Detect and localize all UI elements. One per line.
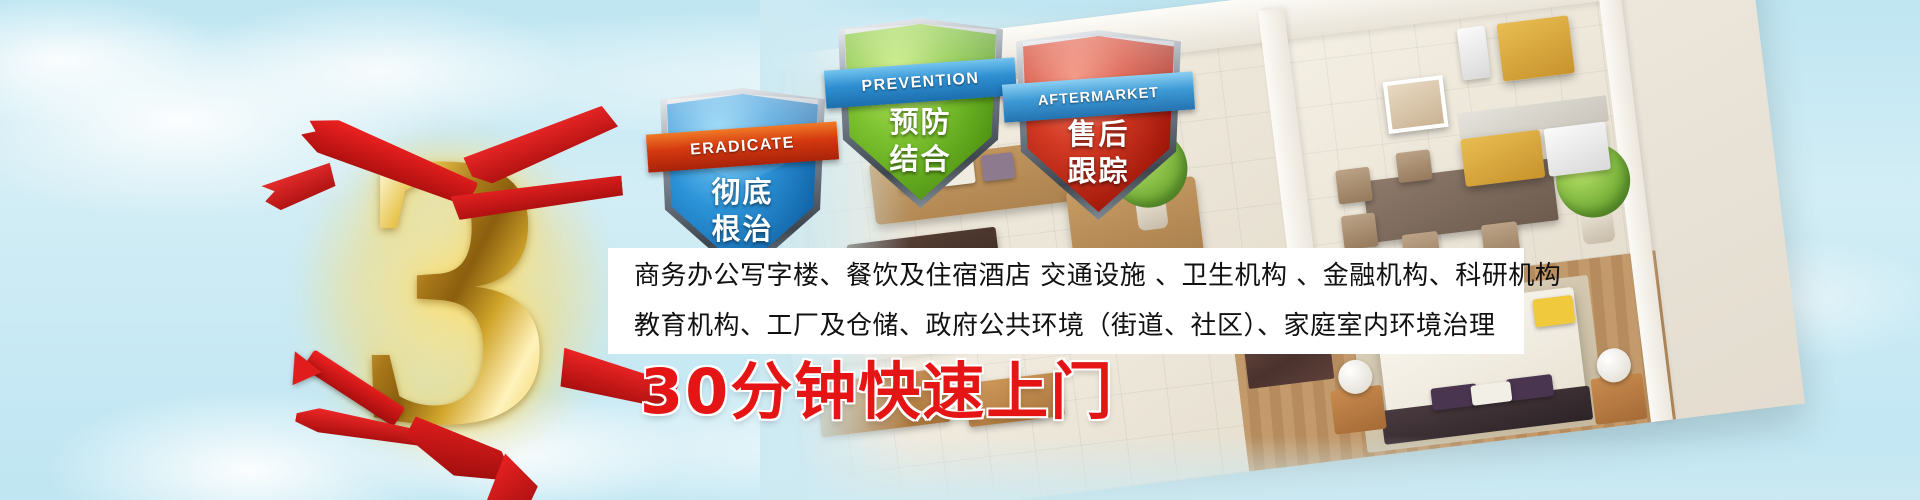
service-scope-line-1: 商务办公写字楼、餐饮及住宿酒店 交通设施 、卫生机构 、金融机构、科研机构 bbox=[634, 253, 1498, 299]
badge-chinese-line2: 结合 bbox=[838, 141, 1003, 178]
badge-chinese-text: 售后 跟踪 bbox=[1016, 116, 1181, 190]
badge-chinese-line2: 根治 bbox=[660, 211, 825, 248]
service-scope-panel: 商务办公写字楼、餐饮及住宿酒店 交通设施 、卫生机构 、金融机构、科研机构 教育… bbox=[608, 248, 1524, 354]
headline-text: 30分钟快速上门 bbox=[640, 358, 1114, 426]
promo-banner: 3 ERADICATE 彻底 根治 bbox=[0, 0, 1920, 500]
service-scope-line-2: 教育机构、工厂及仓储、政府公共环境（街道、社区）、家庭室内环境治理 bbox=[634, 303, 1498, 349]
badge-chinese-text: 彻底 根治 bbox=[660, 174, 825, 248]
badge-chinese-line1: 预防 bbox=[838, 104, 1003, 141]
badge-chinese-text: 预防 结合 bbox=[838, 104, 1003, 178]
badge-english-label: ERADICATE bbox=[690, 134, 796, 159]
badge-english-label: PREVENTION bbox=[861, 70, 980, 96]
badge-chinese-line1: 售后 bbox=[1016, 116, 1181, 153]
badge-english-label: AFTERMARKET bbox=[1037, 85, 1159, 109]
badge-prevention[interactable]: PREVENTION 预防 结合 bbox=[838, 18, 1003, 208]
badge-aftermarket[interactable]: AFTERMARKET 售后 跟踪 bbox=[1016, 30, 1181, 220]
badge-chinese-line1: 彻底 bbox=[660, 174, 825, 211]
badge-chinese-line2: 跟踪 bbox=[1016, 153, 1181, 190]
